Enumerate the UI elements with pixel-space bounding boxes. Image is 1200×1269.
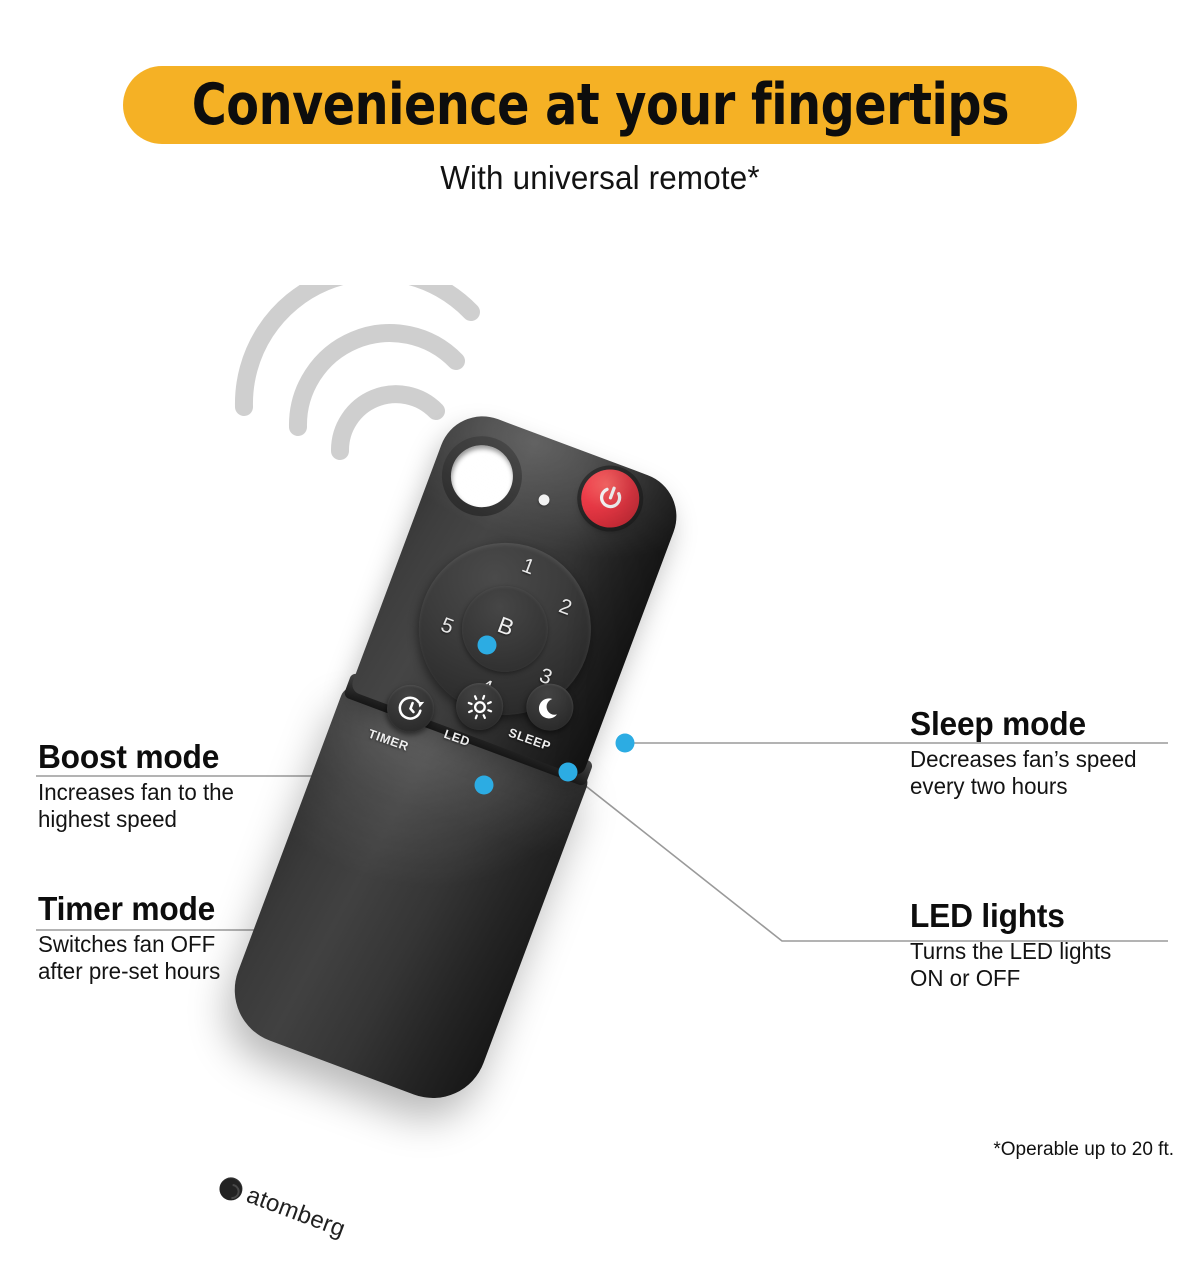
callout-led-title: LED lights xyxy=(910,897,1109,935)
callout-sleep-title: Sleep mode xyxy=(910,705,1134,743)
brand-logo: atomberg xyxy=(215,1171,348,1243)
remote-button-panel: 1 2 3 4 5 B SLEEP xyxy=(350,404,689,777)
moon-icon xyxy=(532,689,568,725)
brand-name: atomberg xyxy=(243,1181,349,1243)
callout-sleep: Sleep mode Decreases fan’s speed every t… xyxy=(910,705,1144,800)
callout-led-description: Turns the LED lights ON or OFF xyxy=(910,938,1111,992)
remote-device: atomberg 1 2 3 4 5 xyxy=(226,404,689,1109)
sleep-button[interactable] xyxy=(520,677,580,737)
callout-dot-led[interactable] xyxy=(559,763,578,782)
callout-timer-title: Timer mode xyxy=(38,890,218,928)
speed-dial[interactable]: 1 2 3 4 5 B xyxy=(394,518,615,739)
footnote: *Operable up to 20 ft. xyxy=(993,1139,1174,1161)
atomberg-mark-icon xyxy=(216,1174,246,1204)
callout-boost: Boost mode Increases fan to the highest … xyxy=(38,738,240,833)
callout-boost-title: Boost mode xyxy=(38,738,232,776)
timer-icon xyxy=(392,690,429,727)
sleep-button-caption: SLEEP xyxy=(507,726,553,754)
led-indicator xyxy=(537,493,551,507)
dial-speed-3[interactable]: 3 xyxy=(529,661,562,693)
dial-speed-5[interactable]: 5 xyxy=(431,611,464,643)
callout-dot-sleep[interactable] xyxy=(616,734,635,753)
callout-timer-description: Switches fan OFF after pre-set hours xyxy=(38,931,220,985)
callout-boost-description: Increases fan to the highest speed xyxy=(38,779,234,833)
power-icon xyxy=(591,479,630,518)
led-button[interactable] xyxy=(449,676,509,736)
callout-sleep-description: Decreases fan’s speed every two hours xyxy=(910,746,1137,800)
brightness-icon xyxy=(462,688,498,724)
dial-speed-1[interactable]: 1 xyxy=(512,551,545,583)
boost-button[interactable] xyxy=(450,574,561,685)
callout-dot-boost[interactable] xyxy=(478,636,497,655)
callout-dot-timer[interactable] xyxy=(475,776,494,795)
callout-timer: Timer mode Switches fan OFF after pre-se… xyxy=(38,890,226,985)
lanyard-hole xyxy=(442,436,522,516)
dial-speed-2[interactable]: 2 xyxy=(549,592,582,624)
dial-speed-4[interactable]: 4 xyxy=(470,672,503,704)
callout-led: LED lights Turns the LED lights ON or OF… xyxy=(910,897,1118,992)
power-button[interactable] xyxy=(573,461,648,536)
remote-illustration: atomberg 1 2 3 4 5 xyxy=(0,0,1200,1200)
